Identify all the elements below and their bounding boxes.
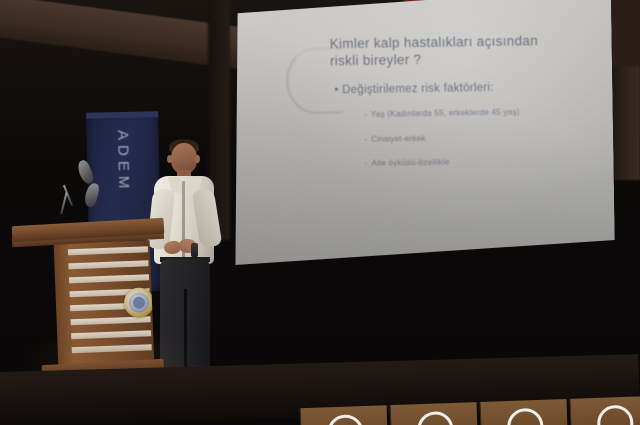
seat-back: [390, 402, 478, 425]
seat-back: [479, 399, 567, 425]
seat-logo-icon: [597, 405, 634, 425]
institutional-seal-icon: [123, 287, 154, 319]
banner-text: ADEM: [114, 130, 132, 194]
seat-logo-icon: [327, 414, 364, 425]
lectern-slat: [69, 274, 149, 283]
dash-marker: -: [364, 110, 367, 119]
seat-back: [569, 396, 640, 425]
dash-marker: -: [365, 159, 368, 168]
presenter-remote-icon: [191, 243, 198, 257]
slide-sub-item-3: -Aile öyküsü-özellikle: [365, 158, 450, 168]
presenter-ear-right: [195, 155, 200, 163]
lectern-slat: [68, 260, 148, 269]
lectern-slat: [68, 246, 148, 255]
slide-sub-item-1-text: Yaş (Kadınlarda 55, erkeklerde 45 yaş): [371, 107, 520, 118]
slide-sub-item-2-text: Cinsiyet-erkek: [371, 134, 426, 144]
projection-screen: Kimler kalp hastalıkları açısından riskl…: [229, 0, 615, 265]
dash-marker: -: [364, 135, 367, 144]
slide-bullet: • Değiştirilemez risk faktörleri:: [334, 80, 594, 96]
seat-logo-icon: [417, 411, 454, 425]
presenter-ear-left: [167, 155, 172, 163]
banner-top-bar: [86, 111, 158, 119]
slide-sub-item-1: -Yaş (Kadınlarda 55, erkeklerde 45 yaş): [364, 107, 520, 118]
photo-scene: Kimler kalp hastalıkları açısından riskl…: [0, 0, 640, 425]
slide-title: Kimler kalp hastalıkları açısından riskl…: [330, 32, 581, 70]
slide-content: Kimler kalp hastalıkları açısından riskl…: [229, 0, 615, 265]
slide-sub-item-3-text: Aile öyküsü-özellikle: [371, 158, 449, 168]
seat-back: [300, 405, 388, 425]
slide-sub-item-2: -Cinsiyet-erkek: [364, 134, 426, 144]
seat-logo-icon: [507, 408, 544, 425]
slide-title-line-2: riskli bireyler ?: [330, 49, 580, 70]
